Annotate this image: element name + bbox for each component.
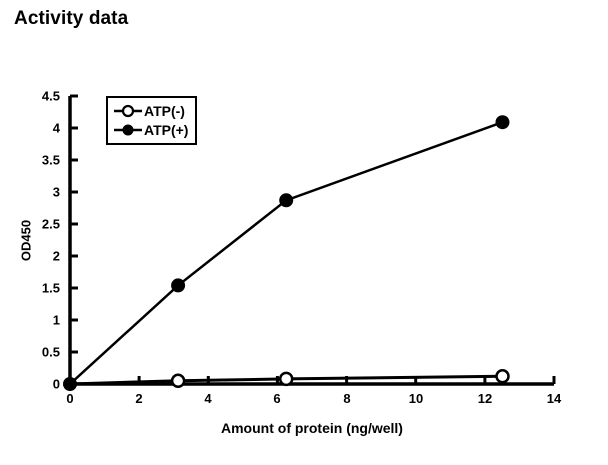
data-point-atp-positive [279, 193, 293, 207]
legend-item-atp-negative: ATP(-) [113, 101, 188, 120]
data-point-atp-positive [171, 278, 185, 292]
y-tick-label: 1.5 [16, 281, 60, 296]
plot-canvas [0, 0, 608, 465]
open-circle-marker-icon [113, 104, 143, 118]
legend: ATP(-) ATP(+) [106, 96, 197, 145]
y-tick-label: 1 [16, 313, 60, 328]
y-tick-label: 4.5 [16, 89, 60, 104]
x-tick-label: 14 [547, 391, 561, 406]
legend-label: ATP(+) [144, 123, 188, 137]
x-tick-label: 12 [478, 391, 492, 406]
y-tick-label: 4 [16, 121, 60, 136]
x-tick-label: 10 [409, 391, 423, 406]
y-tick-label: 3.5 [16, 153, 60, 168]
x-tick-label: 4 [204, 391, 211, 406]
x-tick-label: 6 [273, 391, 280, 406]
series-atp-positive [63, 115, 510, 391]
y-tick-label: 3 [16, 185, 60, 200]
legend-item-atp-positive: ATP(+) [113, 120, 188, 139]
data-point-atp-positive [496, 115, 510, 129]
x-tick-label: 0 [66, 391, 73, 406]
data-point-atp-negative [280, 373, 292, 385]
legend-label: ATP(-) [144, 104, 185, 118]
data-point-origin [63, 377, 77, 391]
x-tick-label: 8 [343, 391, 350, 406]
x-tick-label: 2 [135, 391, 142, 406]
data-point-atp-negative [172, 375, 184, 387]
y-tick-label: 0.5 [16, 345, 60, 360]
x-axis-title: Amount of protein (ng/well) [152, 420, 472, 436]
data-point-atp-negative [497, 370, 509, 382]
y-axis-title: OD450 [19, 211, 34, 271]
y-tick-label: 0 [16, 377, 60, 392]
filled-circle-marker-icon [113, 123, 143, 137]
activity-data-line-chart: 4.5 4 3.5 3 2.5 2 1.5 1 0.5 0 0 2 4 6 8 … [0, 0, 608, 465]
